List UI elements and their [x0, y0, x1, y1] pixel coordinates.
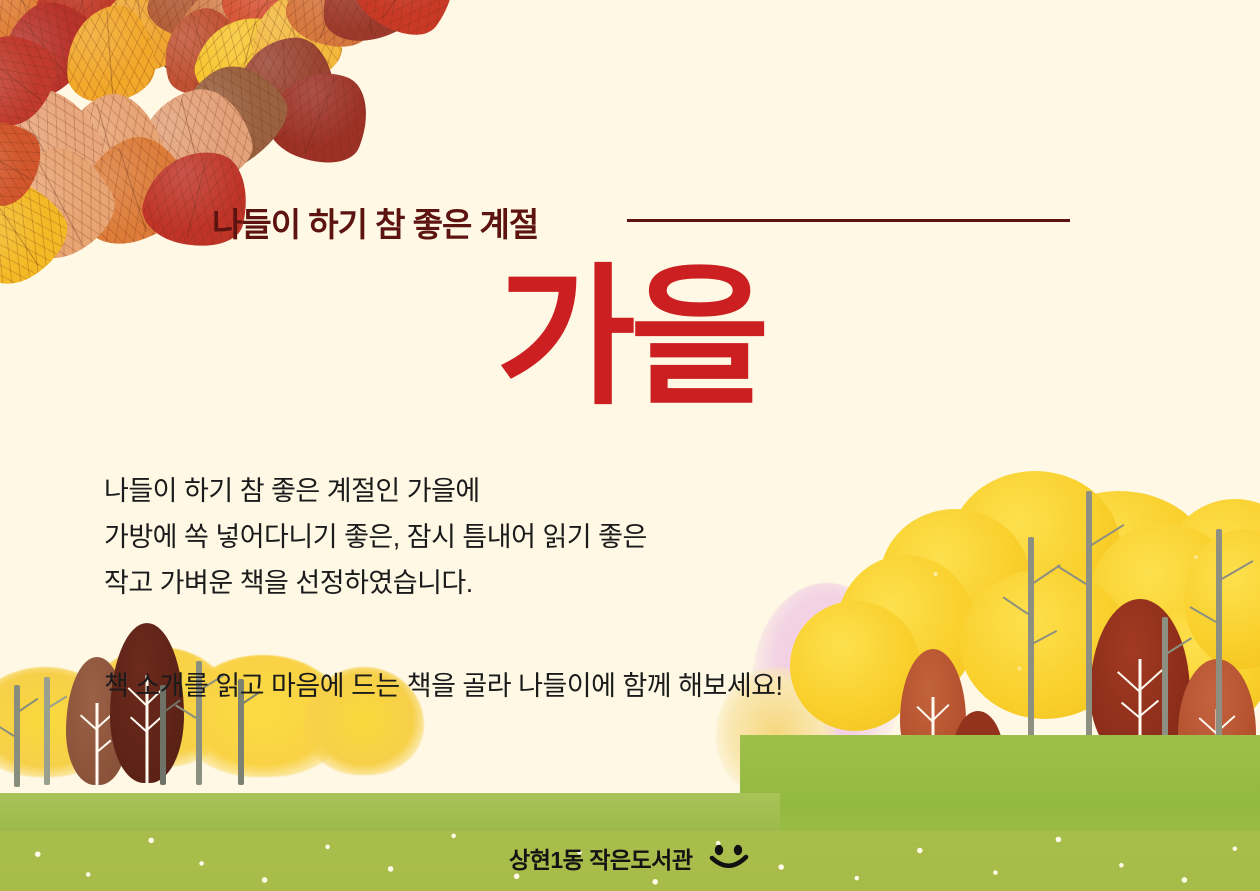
poster-subheading: 나들이 하기 참 좋은 계절 — [212, 198, 538, 246]
footer: 상현1동 작은도서관 — [0, 840, 1260, 875]
poster-body-paragraph-2: 책 소개를 읽고 마음에 드는 책을 골라 나들이에 함께 해보세요! — [104, 663, 783, 709]
tree-twig — [1139, 669, 1163, 691]
smiley-face-icon — [707, 843, 751, 878]
tree-twig — [1139, 700, 1159, 717]
tree-twig — [932, 704, 949, 721]
birch-trunk — [1028, 537, 1034, 743]
birch-trunk — [14, 685, 20, 787]
autumn-library-poster: 나들이 하기 참 좋은 계절 가을 나들이 하기 참 좋은 계절인 가을에 가방… — [0, 0, 1260, 891]
tree-twig — [1117, 671, 1141, 693]
birch-trunk — [1086, 491, 1092, 741]
birch-trunk — [44, 677, 50, 785]
tree-branch — [96, 703, 99, 785]
poster-title: 가을 — [0, 262, 1260, 414]
heading-rule — [627, 219, 1070, 222]
tree-twig — [96, 740, 111, 753]
library-name: 상현1동 작은도서관 — [509, 841, 692, 875]
